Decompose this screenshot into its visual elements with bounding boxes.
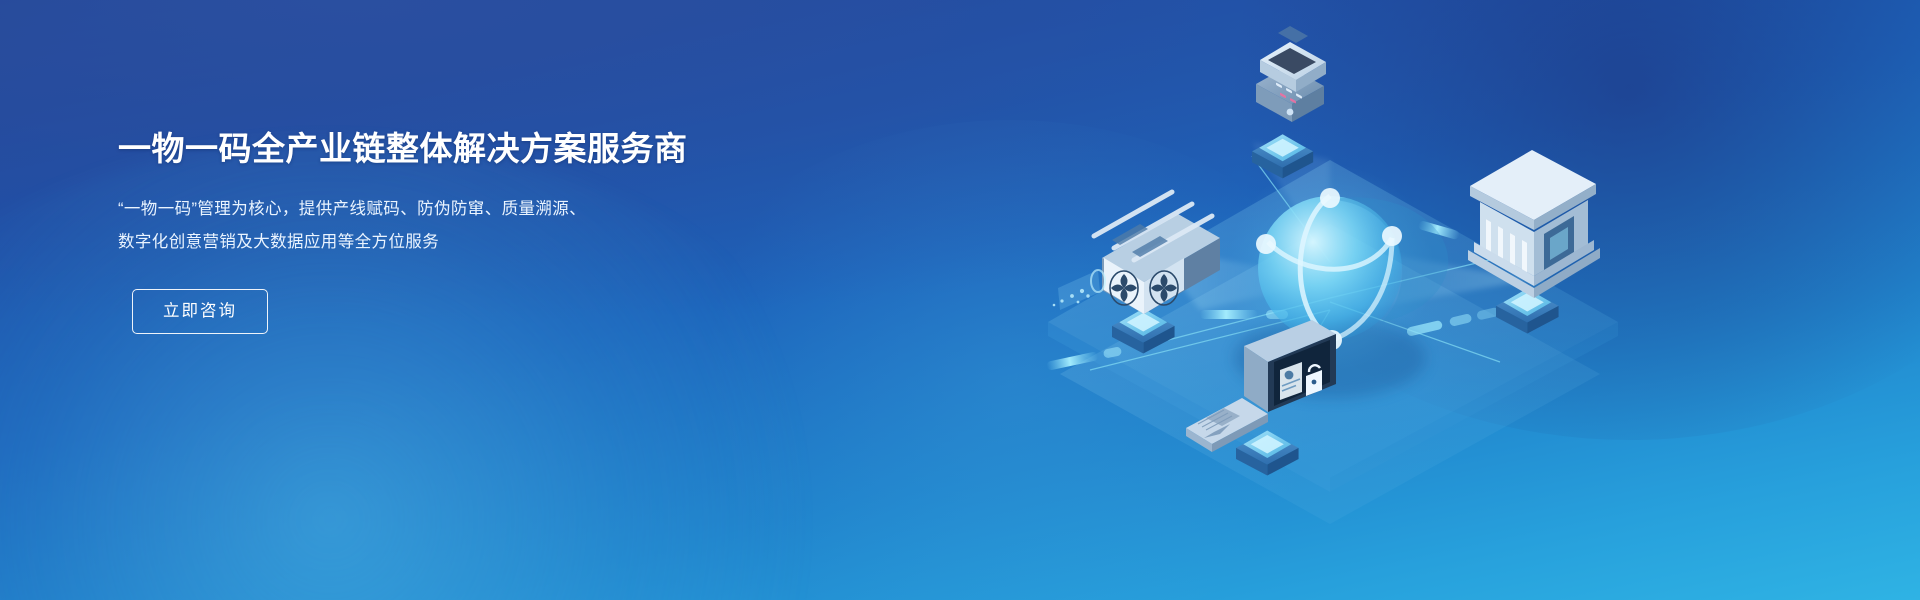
banner-subtitle-line-1: “一物一码”管理为核心，提供产线赋码、防伪防窜、质量溯源、	[118, 193, 738, 226]
banner-subtitle: “一物一码”管理为核心，提供产线赋码、防伪防窜、质量溯源、 数字化创意营销及大数…	[118, 193, 738, 259]
hero-illustration	[900, 10, 1720, 590]
banner-subtitle-line-2: 数字化创意营销及大数据应用等全方位服务	[118, 226, 738, 259]
pos-terminal-icon	[1256, 26, 1326, 122]
banner-headline: 一物一码全产业链整体解决方案服务商	[118, 128, 738, 169]
banner-copy: 一物一码全产业链整体解决方案服务商 “一物一码”管理为核心，提供产线赋码、防伪防…	[118, 128, 738, 334]
hero-banner: 一物一码全产业链整体解决方案服务商 “一物一码”管理为核心，提供产线赋码、防伪防…	[0, 0, 1920, 600]
consult-now-button[interactable]: 立即咨询	[132, 289, 268, 334]
